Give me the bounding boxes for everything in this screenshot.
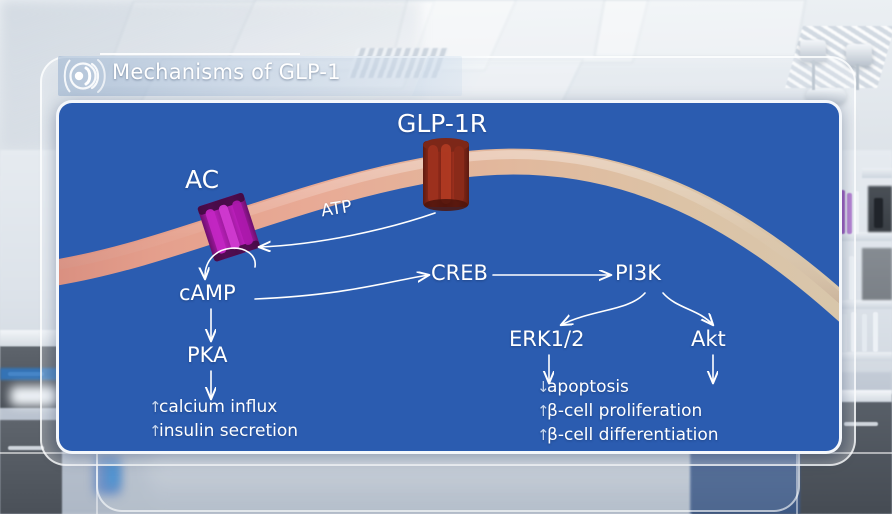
outcome-label: calcium influx [159, 397, 277, 417]
test-tube [862, 314, 867, 352]
test-tube [873, 312, 878, 352]
node-pka: PKA [187, 343, 227, 367]
node-erk: ERK1/2 [509, 327, 584, 351]
reagent-bottle [874, 198, 883, 228]
lab-equipment [862, 248, 892, 300]
left-outcome-list: ↑calcium influx↑insulin secretion [149, 395, 298, 443]
node-akt: Akt [691, 327, 726, 351]
diagram-panel: GLP-1R AC ATP cAMP PKA CREB PI3K ERK1/2 … [56, 100, 842, 454]
glass-divider [796, 452, 798, 514]
label-glp1r: GLP-1R [397, 109, 487, 138]
outcome-item: ↑β-cell differentiation [537, 423, 719, 447]
cabinet-handle [8, 446, 44, 450]
ceiling-lamp [846, 44, 872, 66]
audio-wave-icon [62, 54, 108, 98]
outcome-direction-icon: ↑ [537, 401, 547, 422]
outcome-label: β-cell proliferation [547, 401, 702, 421]
glass-divider [96, 452, 98, 514]
outcome-direction-icon: ↑ [537, 425, 547, 446]
outcome-label: β-cell differentiation [547, 425, 719, 445]
node-camp: cAMP [179, 281, 236, 305]
ceiling-tile [595, 0, 805, 56]
outcome-direction-icon: ↑ [149, 397, 159, 418]
label-ac: AC [185, 165, 219, 194]
outcome-item: ↑β-cell proliferation [537, 399, 719, 423]
node-pi3k: PI3K [615, 261, 661, 285]
lamp-stem [856, 64, 859, 90]
outcome-item: ↑calcium influx [149, 395, 298, 419]
outcome-label: insulin secretion [159, 421, 298, 441]
title-underline [100, 53, 300, 55]
glp1r-receptor-shape [423, 138, 469, 211]
outcome-label: apoptosis [547, 377, 629, 397]
shelf [862, 168, 892, 178]
page-title: Mechanisms of GLP-1 [112, 60, 341, 84]
outcome-item: ↓apoptosis [537, 375, 719, 399]
right-outcome-list: ↓apoptosis↑β-cell proliferation↑β-cell d… [537, 375, 719, 447]
outcome-direction-icon: ↑ [149, 421, 159, 442]
outcome-direction-icon: ↓ [537, 377, 547, 398]
outcome-item: ↑insulin secretion [149, 419, 298, 443]
screenshot-root: Mechanisms of GLP-1 [0, 0, 892, 514]
node-creb: CREB [431, 261, 488, 285]
ac-enzyme-shape [197, 192, 261, 262]
